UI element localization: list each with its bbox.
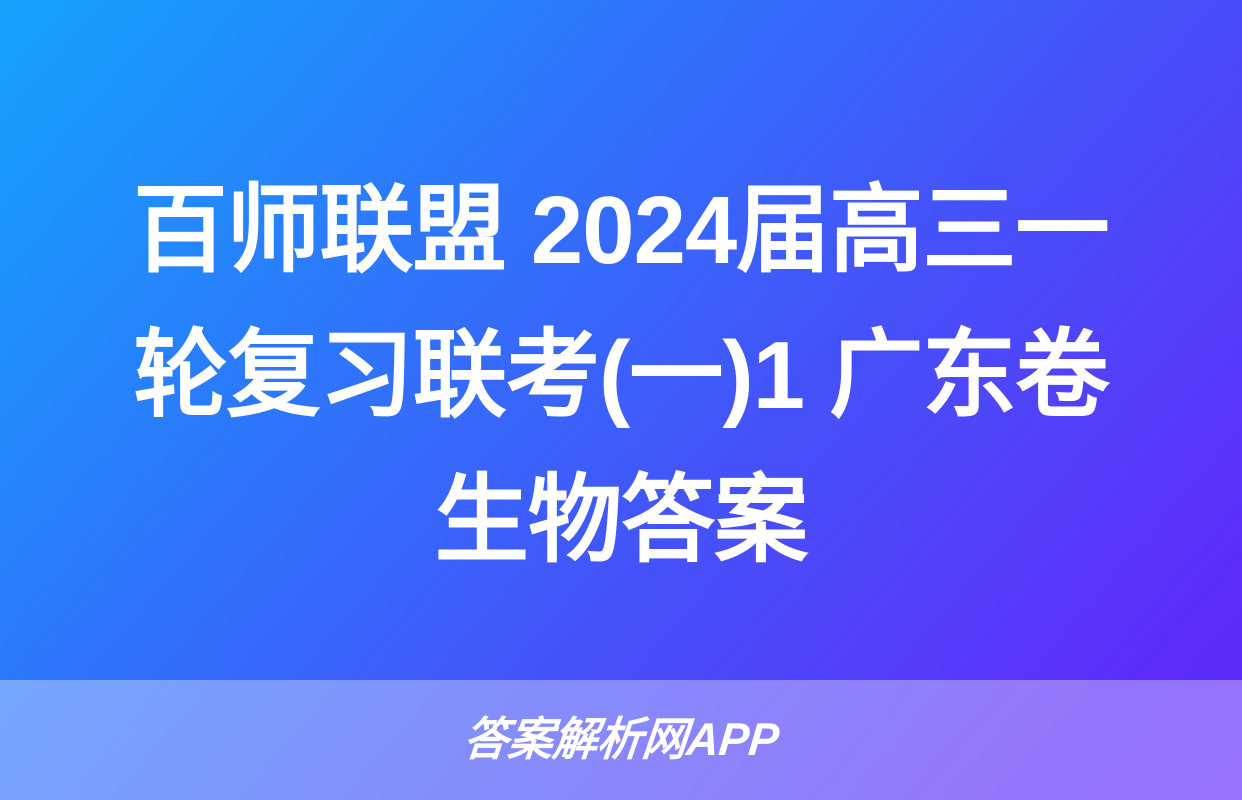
title-line-2: 轮复习联考(一)1 广东卷 <box>52 303 1191 448</box>
watermark-text: 答案解析网APP <box>461 716 781 764</box>
page-title: 百师联盟 2024届高三一 轮复习联考(一)1 广东卷 生物答案 <box>0 158 1242 593</box>
cover-image: 百师联盟 2024届高三一 轮复习联考(一)1 广东卷 生物答案 答案解析网AP… <box>0 0 1242 800</box>
footer-watermark-band: 答案解析网APP <box>0 680 1242 800</box>
title-line-3: 生物答案 <box>52 448 1191 593</box>
title-line-1: 百师联盟 2024届高三一 <box>52 158 1191 303</box>
